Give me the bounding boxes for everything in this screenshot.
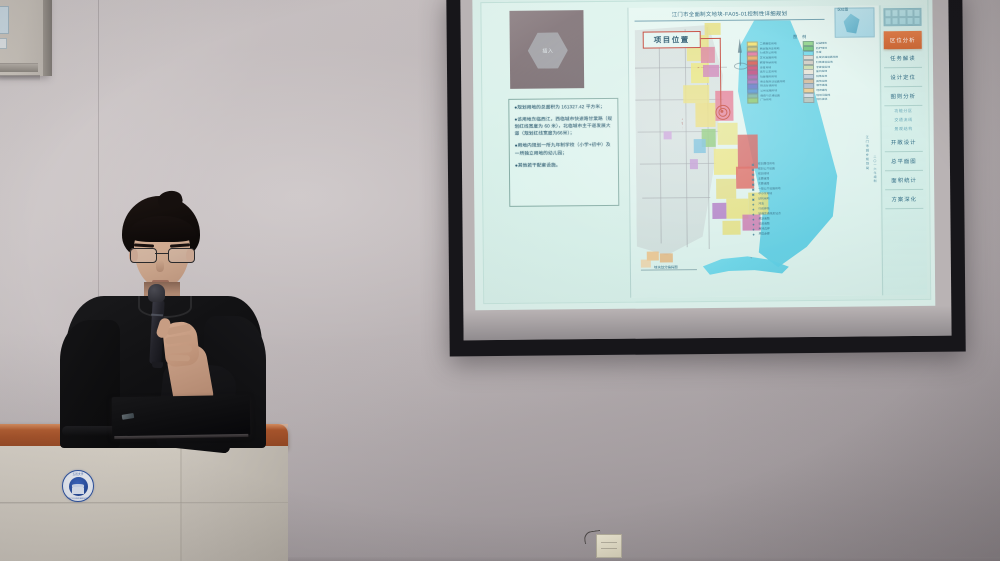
wall-baseboard	[280, 557, 1000, 561]
legend-symbol-glyph: ▣	[750, 188, 756, 191]
emblem-bottom-text: WUYI UNIVERSITY	[63, 498, 93, 500]
nav-item-list: 区位分析任务解读设计定位图则分析	[881, 31, 926, 106]
legend-label: 文化设施用地	[760, 56, 777, 60]
legend-symbol-column-right: ◈河流◈行政界线◈轨道交通线及站点◈规划道路◈已建道路◈用地边界◈高压走廊	[750, 201, 856, 236]
hexagon-icon: 插入	[528, 32, 568, 68]
emblem-building-glyph	[72, 487, 84, 494]
legend-label: 物流仓储用地	[760, 85, 777, 89]
map-parcel	[716, 179, 736, 199]
legend-symbol-row: ▣规划绿地	[750, 172, 856, 177]
legend-symbol-glyph: ◈	[750, 202, 756, 205]
north-arrow-icon	[733, 39, 747, 73]
nav-item-任务解读[interactable]: 任务解读	[884, 49, 922, 68]
eyeglass-lens-right	[168, 248, 195, 263]
projected-image: 插入 ●规划用地的总面积为 161327.42 平方米； ●该用地东临西江，西临…	[472, 0, 935, 310]
map-parcel	[722, 221, 740, 235]
legend-swatch	[747, 98, 758, 103]
slide-image-placeholder: 插入	[509, 10, 584, 89]
nav-grid-cell	[899, 17, 906, 25]
locator-inset-label: 区位图	[837, 8, 848, 13]
bullet-2: ●该用地东临西江，西临城市快速路甘棠路（规划红线宽度为 60 米），北临城市主干…	[514, 115, 612, 137]
legend-symbol-glyph: ◈	[750, 207, 756, 210]
legend-symbol-row: ◈轨道交通线及站点	[750, 211, 856, 216]
outlet-slot	[601, 542, 617, 543]
marker-center-dot	[720, 110, 723, 113]
microphone-head	[148, 284, 165, 302]
legend-label: 防护绿地	[816, 47, 827, 51]
podium-panel-seam	[0, 502, 288, 504]
legend-label: 留白用地	[816, 70, 827, 74]
legend-label: 商业服务业设施用地	[760, 80, 785, 84]
map-side-text-2: 二〇一六年编制	[873, 155, 878, 245]
legend-symbol-row: ▣幼托用地	[750, 196, 856, 201]
legend-symbol-row: ▣次要道路	[750, 181, 856, 186]
legend-symbol-glyph: ◈	[750, 217, 756, 220]
eyeglass-bridge	[155, 253, 168, 254]
legend-label: 区域交通设施用地	[816, 56, 838, 60]
slide-text-box: ●规划用地的总面积为 161327.42 平方米； ●该用地东临西江，西临城市快…	[508, 98, 619, 207]
legend-symbol-row: ▣规划居住用地	[750, 162, 856, 167]
legend-symbol-glyph: ◈	[751, 227, 757, 230]
legend-label: 社会福利用地	[760, 75, 777, 79]
nav-grid-cell	[885, 17, 892, 25]
presenter-collar	[138, 296, 192, 318]
legend-label: 特殊用地	[816, 75, 827, 79]
legend-symbol-label: 已建道路	[758, 222, 769, 226]
legend-symbol-label: 中小学用地	[758, 192, 772, 196]
legend-label: 规划范围线	[816, 93, 830, 97]
legend-symbol-glyph: ▣	[750, 193, 756, 196]
legend-label: 医疗卫生用地	[760, 71, 777, 75]
nav-grid-cell	[899, 9, 906, 17]
legend-symbol-label: 用地边界	[759, 227, 770, 231]
nav-sub-item-list: 功能分区交通流线景观结构	[881, 106, 925, 133]
legend-symbol-label: 规划道路	[758, 217, 769, 221]
wall-outlet[interactable]	[596, 534, 622, 558]
code-block-rule	[641, 269, 697, 271]
map-title: 江门市全面制文地块-FA05-01控制性详细规划	[634, 10, 824, 22]
nav-grid-cell	[906, 17, 913, 25]
slide-nav-sidebar: 区位分析任务解读设计定位图则分析 功能分区交通流线景观结构 开敞设计总平面图面积…	[879, 5, 927, 295]
legend-symbol-label: 次要道路	[758, 182, 769, 186]
legend-symbol-label: 幼托用地	[758, 197, 769, 201]
map-parcel	[695, 103, 715, 127]
nav-sub-item-交通流线[interactable]: 交通流线	[884, 115, 922, 124]
air-conditioner-sticker	[0, 6, 9, 34]
hexagon-label: 插入	[542, 47, 553, 54]
presenter-nose	[156, 260, 164, 272]
legend-column-left: 二类居住用地商业服务业用地行政办公用地文化设施用地教育科研用地体育用地医疗卫生用…	[747, 42, 800, 103]
map-legend: 图 例 二类居住用地商业服务业用地行政办公用地文化设施用地教育科研用地体育用地医…	[747, 34, 856, 159]
legend-symbol-label: 河流	[758, 202, 764, 205]
legend-label: 公用设施用地	[760, 89, 777, 93]
project-location-callout: 项目位置	[643, 31, 701, 49]
legend-swatch	[803, 97, 814, 102]
wall-air-conditioner	[0, 0, 46, 76]
map-parcel	[718, 123, 738, 145]
map-parcel	[703, 65, 719, 77]
legend-symbol-row: ◈已建道路	[750, 221, 856, 226]
planning-map: 江门市全面制文地块-FA05-01控制性详细规划 区位图	[627, 5, 881, 297]
legend-symbol-column-left: ▣规划居住用地▣规划公共设施▣规划绿地▣主要道路▣次要道路▣一般公共设施用地▣中…	[750, 162, 856, 202]
air-conditioner-shadow	[0, 75, 40, 81]
air-conditioner-sticker-small	[0, 38, 7, 49]
air-conditioner-vent	[0, 63, 38, 72]
university-emblem: 五邑大学 WUYI UNIVERSITY	[62, 470, 94, 502]
legend-symbol-row: ▣规划公共设施	[750, 167, 856, 172]
emblem-top-text: 五邑大学	[63, 472, 93, 476]
projection-screen-surface: 插入 ●规划用地的总面积为 161327.42 平方米； ●该用地东临西江，西临…	[460, 0, 951, 340]
legend-label: 体育用地	[760, 66, 771, 70]
air-conditioner-side	[43, 0, 52, 76]
code-block-swatch	[660, 253, 673, 262]
legend-label: 村庄建设用地	[816, 61, 833, 65]
legend-label: 公园绿地	[816, 42, 827, 46]
map-parcel	[683, 85, 709, 103]
legend-label: 水域	[816, 51, 822, 54]
legend-symbol-row: ◈高压走廊	[751, 231, 857, 236]
legend-label: 现状建筑	[816, 98, 827, 102]
map-parcel	[701, 47, 715, 63]
nav-grid-cell	[884, 9, 891, 17]
legend-symbol-row: ◈规划道路	[750, 216, 856, 221]
nav-item-总平面图[interactable]: 总平面图	[885, 152, 923, 171]
legend-row: 广场用地	[747, 98, 799, 102]
north-needle	[738, 39, 742, 53]
legend-title: 图 例	[747, 34, 855, 41]
legend-symbol-glyph: ◈	[751, 232, 757, 235]
nav-sub-item-景观结构[interactable]: 景观结构	[885, 124, 923, 133]
map-parcel	[664, 131, 672, 139]
nav-item-区位分析[interactable]: 区位分析	[884, 31, 922, 49]
callout-label: 项目位置	[654, 34, 690, 45]
legend-symbol-glyph: ▣	[750, 198, 756, 201]
callout-leader-line-h	[699, 38, 721, 39]
legend-symbol-label: 规划绿地	[758, 172, 769, 176]
legend-symbol-row: ▣中小学用地	[750, 191, 856, 196]
map-parcel	[705, 23, 721, 35]
legend-label: 行政办公用地	[760, 52, 777, 56]
screenshot-root: 插入 ●规划用地的总面积为 161327.42 平方米； ●该用地东临西江，西临…	[0, 0, 1000, 561]
nav-item-设计定位[interactable]: 设计定位	[884, 68, 922, 87]
legend-symbol-glyph: ▣	[750, 173, 756, 176]
nav-item-list-2: 开敞设计总平面图面积统计方案深化	[882, 133, 927, 209]
map-side-text-1: 江门市城乡规划局	[865, 135, 871, 245]
nav-item-图则分析[interactable]: 图则分析	[884, 87, 922, 106]
legend-label: 道路与交通设施	[760, 94, 780, 98]
legend-symbol-label: 轨道交通线及站点	[758, 212, 780, 216]
legend-symbol-glyph: ◈	[750, 212, 756, 215]
legend-symbol-glyph: ▣	[750, 178, 756, 181]
nav-grid-cell	[913, 9, 920, 17]
legend-symbol-row: ◈河流	[750, 201, 856, 206]
legend-symbol-row: ◈行政界线	[750, 206, 856, 211]
presenter-sleeve-left	[62, 426, 118, 436]
legend-symbol-glyph: ▣	[750, 168, 756, 171]
map-parcel	[694, 139, 706, 153]
legend-symbol-label: 行政界线	[758, 207, 769, 211]
legend-symbol-row: ▣主要道路	[750, 177, 856, 182]
legend-column-right: 公园绿地防护绿地水域区域交通设施用地村庄建设用地非建设用地留白用地特殊用地其他用…	[803, 42, 856, 103]
nav-item-开敞设计[interactable]: 开敞设计	[885, 133, 923, 152]
screen-lower-shade	[463, 306, 951, 341]
legend-label: 二类居住用地	[760, 42, 777, 46]
nav-grid-cell	[913, 17, 920, 25]
nav-sub-item-功能分区[interactable]: 功能分区	[884, 106, 922, 115]
north-ellipse	[734, 63, 748, 70]
legend-label: 地块编号	[816, 89, 827, 93]
legend-label: 教育科研用地	[760, 61, 777, 65]
legend-row: 现状建筑	[803, 98, 855, 102]
nav-item-面积统计[interactable]: 面积统计	[885, 171, 923, 190]
legend-label: 商业服务业用地	[760, 47, 780, 51]
map-legend-symbols: ▣规划居住用地▣规划公共设施▣规划绿地▣主要道路▣次要道路▣一般公共设施用地▣中…	[750, 162, 856, 215]
bullet-1: ●规划用地的总面积为 161327.42 平方米；	[514, 103, 612, 111]
legend-symbol-glyph: ▣	[750, 183, 756, 186]
eyeglass-lens-left	[130, 248, 157, 263]
legend-symbol-glyph: ◈	[750, 222, 756, 225]
legend-label: 城市道路	[816, 84, 827, 88]
map-code-block: 地块划分编码图	[641, 251, 699, 272]
presenter-laptop[interactable]	[112, 395, 251, 441]
outlet-slot	[601, 548, 617, 549]
legend-label: 其他用地	[816, 79, 827, 83]
nav-grid-cell	[906, 9, 913, 17]
locator-inset-shape	[843, 14, 859, 34]
bullet-3: ●用地内规划一所九年制学校（小学+初中）及一所独立用地的幼儿园；	[515, 141, 613, 156]
nav-grid-thumbnail[interactable]	[883, 8, 921, 26]
legend-symbol-row: ▣一般公共设施用地	[750, 186, 856, 191]
legend-symbol-label: 规划公共设施	[758, 167, 775, 171]
project-site-marker-icon	[715, 105, 730, 120]
legend-symbol-glyph: ▣	[750, 163, 756, 166]
map-parcel	[690, 159, 698, 169]
legend-label: 广场用地	[760, 99, 771, 103]
projection-screen-frame: 插入 ●规划用地的总面积为 161327.42 平方米； ●该用地东临西江，西临…	[446, 0, 965, 356]
presenter-finger	[168, 355, 190, 362]
nav-grid-cell	[892, 9, 899, 17]
map-parcel	[714, 149, 738, 175]
nav-item-方案深化[interactable]: 方案深化	[885, 190, 923, 209]
code-block-swatch	[641, 260, 651, 268]
legend-symbol-label: 主要道路	[758, 177, 769, 181]
presentation-slide: 插入 ●规划用地的总面积为 161327.42 平方米； ●该用地东临西江，西临…	[480, 0, 931, 304]
legend-symbol-label: 高压走廊	[759, 232, 770, 236]
legend-symbol-label: 一般公共设施用地	[758, 187, 780, 191]
bullet-4: ●其他若干配套设施。	[515, 161, 613, 169]
legend-symbol-row: ◈用地边界	[751, 226, 857, 231]
microphone-base	[152, 362, 163, 369]
map-parcel	[712, 203, 726, 219]
emblem-inner-disc	[69, 477, 88, 496]
nav-grid-cell	[892, 17, 899, 25]
legend-label: 非建设用地	[816, 65, 830, 69]
